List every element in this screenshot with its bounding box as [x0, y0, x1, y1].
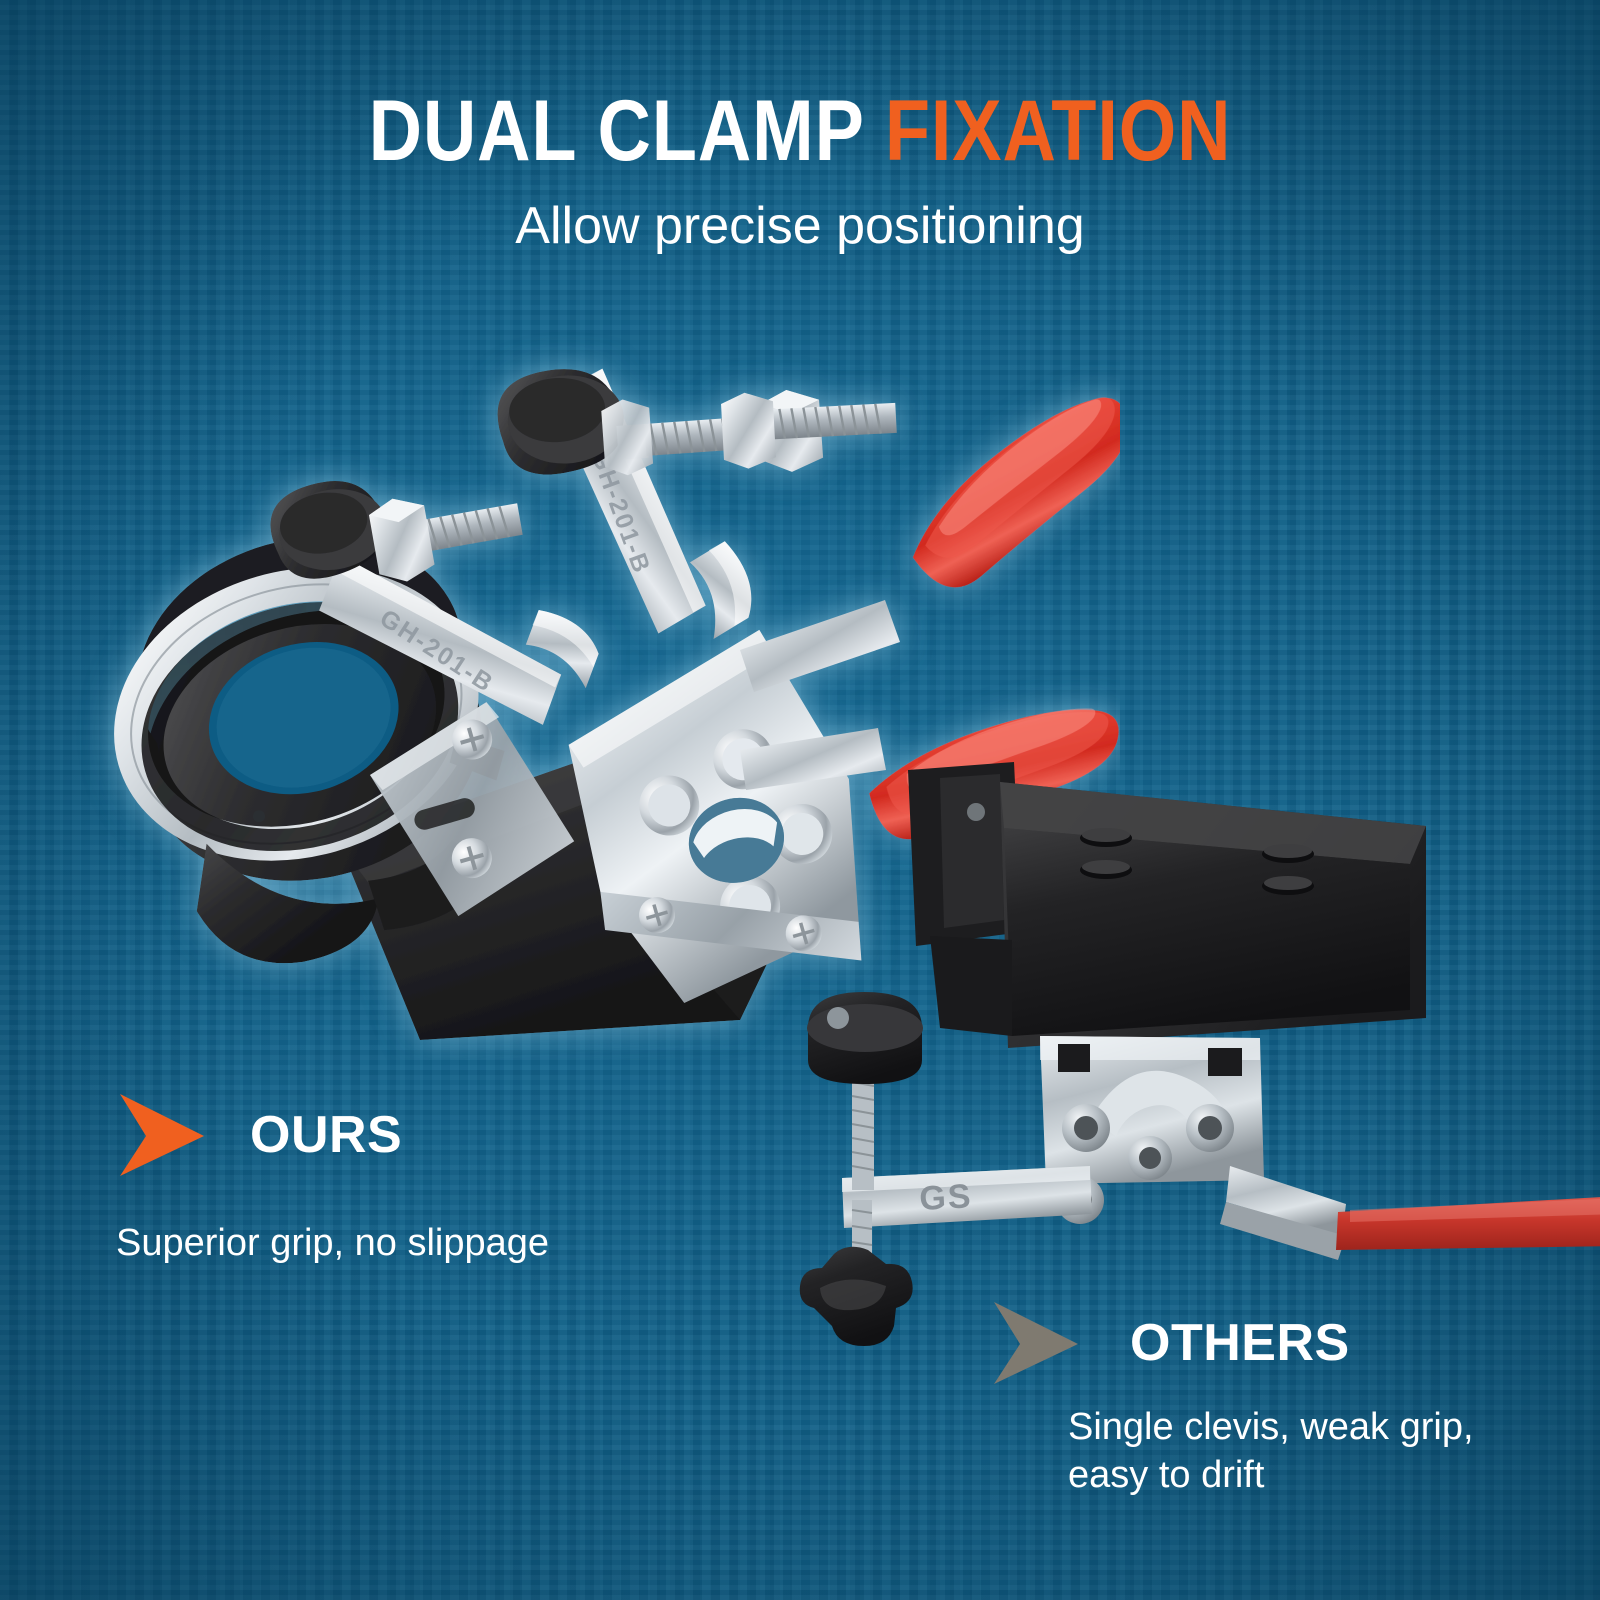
title-text-highlight: FIXATION	[885, 83, 1232, 179]
comparison-label-ours: OURS	[250, 1105, 402, 1165]
comparison-description-others: Single clevis, weak grip, easy to drift	[1068, 1404, 1474, 1499]
arrow-right-icon	[990, 1300, 1082, 1386]
title-text-primary: DUAL CLAMP	[369, 83, 885, 179]
comparison-block-ours: OURS Superior grip, no slippage	[116, 1092, 549, 1268]
comparison-label-others: OTHERS	[1130, 1313, 1350, 1373]
arrow-right-icon	[116, 1092, 208, 1178]
comparison-block-others: OTHERS Single clevis, weak grip, easy to…	[990, 1300, 1474, 1499]
page-title: DUAL CLAMP FIXATION	[112, 88, 1488, 174]
marking-gs: GS	[918, 1177, 973, 1218]
page-subtitle: Allow precise positioning	[0, 196, 1600, 256]
promo-graphic: GH-201-B GH-201-B	[0, 0, 1600, 1600]
header-block: DUAL CLAMP FIXATION Allow precise positi…	[0, 88, 1600, 256]
comparison-description-ours: Superior grip, no slippage	[116, 1220, 549, 1268]
